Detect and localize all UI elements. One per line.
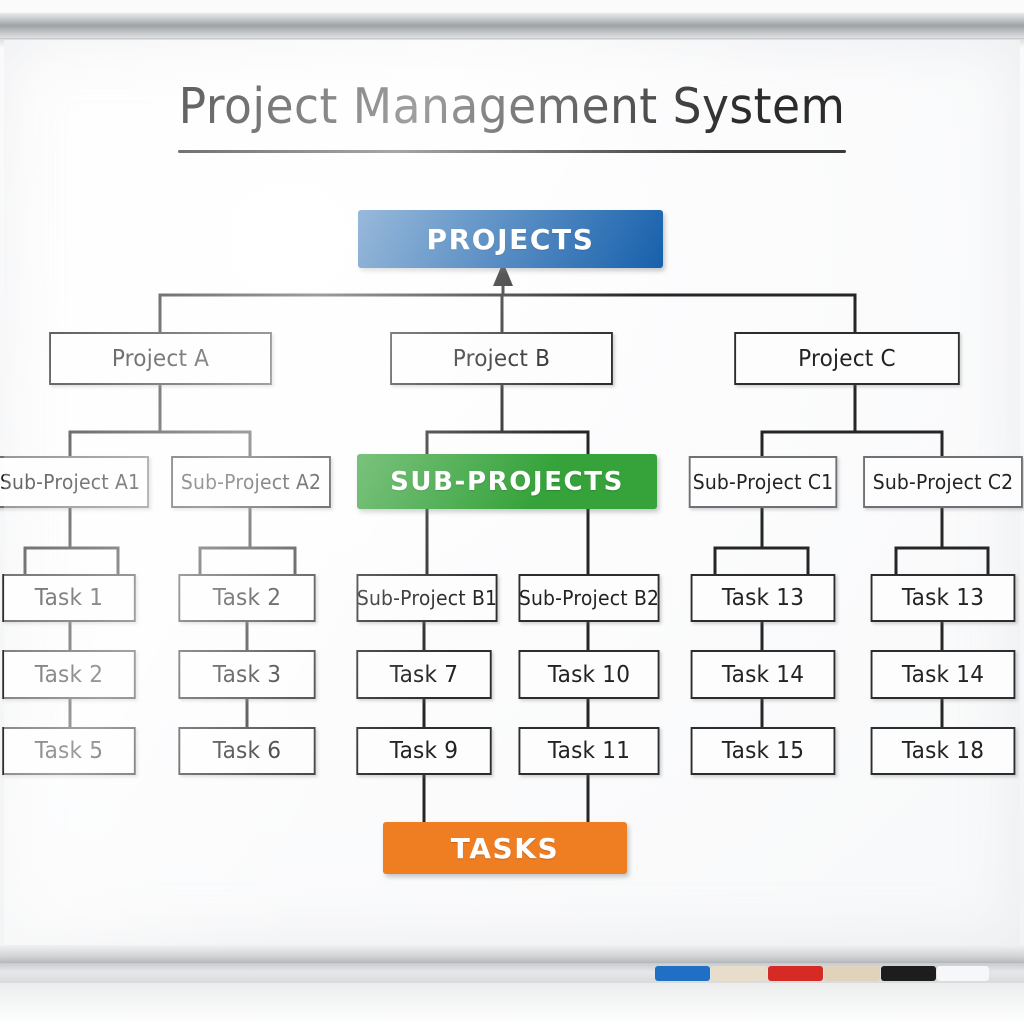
node-sub-project-a1[interactable]: Sub-Project A1 [0,456,149,508]
projects-banner[interactable]: PROJECTS [358,210,663,268]
tasks-banner-label: TASKS [451,832,560,865]
title-underline [178,150,846,153]
node-label: Task 2 [213,585,281,611]
node-label: Task 1 [35,585,103,611]
node-sub-project-c1[interactable]: Sub-Project C1 [689,456,838,508]
node-label: Task 13 [902,585,984,611]
node-label: Sub-Project A1 [0,470,140,494]
node-task-c1-1[interactable]: Task 13 [691,574,836,622]
node-label: Task 14 [722,662,804,688]
node-label: Task 15 [722,738,804,764]
red-marker[interactable] [768,966,823,981]
node-label: Sub-Project C2 [873,470,1014,494]
sub-projects-banner[interactable]: SUB-PROJECTS [357,454,657,509]
node-label: Task 10 [548,662,630,688]
black-marker[interactable] [881,966,936,981]
node-project-c[interactable]: Project C [734,332,960,385]
cream-marker[interactable] [711,966,767,981]
node-label: Task 2 [35,662,103,688]
node-task-a1-1[interactable]: Task 1 [2,574,135,622]
node-task-a2-1[interactable]: Task 2 [178,574,315,622]
page-title: Project Management System [36,78,988,135]
node-sub-project-c2[interactable]: Sub-Project C2 [863,456,1023,508]
node-task-c1-2[interactable]: Task 14 [691,650,836,699]
node-sub-project-b2[interactable]: Sub-Project B2 [519,574,660,622]
node-label: Project B [453,346,550,372]
node-task-a2-2[interactable]: Task 3 [178,650,315,699]
node-label: Task 11 [548,738,630,764]
node-label: Project C [798,346,896,372]
node-label: Task 18 [902,738,984,764]
projects-banner-label: PROJECTS [426,223,594,256]
tasks-banner[interactable]: TASKS [383,822,627,874]
node-task-b2-2[interactable]: Task 11 [519,727,660,775]
node-task-c2-2[interactable]: Task 14 [871,650,1016,699]
node-label: Task 9 [390,738,458,764]
node-task-c2-1[interactable]: Task 13 [871,574,1016,622]
node-label: Sub-Project B1 [357,586,497,610]
node-label: Task 3 [213,662,281,688]
marker-tray-lip [0,983,1024,1024]
white-marker[interactable] [937,966,989,981]
tan-marker[interactable] [824,966,880,981]
whiteboard-top-frame [0,12,1024,39]
node-sub-project-a2[interactable]: Sub-Project A2 [171,456,331,508]
node-label: Task 7 [390,662,458,688]
node-project-b[interactable]: Project B [390,332,613,385]
node-label: Task 14 [902,662,984,688]
node-label: Task 13 [722,585,804,611]
whiteboard-scene: Project Management System [0,0,1024,1024]
node-task-b1-1[interactable]: Task 7 [356,650,491,699]
node-label: Project A [112,346,209,372]
node-sub-project-b1[interactable]: Sub-Project B1 [357,574,498,622]
blue-marker[interactable] [655,966,710,981]
node-task-c2-3[interactable]: Task 18 [871,727,1016,775]
node-label: Sub-Project C1 [693,470,834,494]
sub-projects-banner-label: SUB-PROJECTS [390,467,624,497]
node-label: Sub-Project A2 [181,470,321,494]
node-project-a[interactable]: Project A [49,332,272,385]
node-task-a2-3[interactable]: Task 6 [178,727,315,775]
node-task-b2-1[interactable]: Task 10 [519,650,660,699]
node-task-a1-2[interactable]: Task 2 [2,650,135,699]
node-task-b1-2[interactable]: Task 9 [356,727,491,775]
node-task-c1-3[interactable]: Task 15 [691,727,836,775]
node-label: Task 5 [35,738,103,764]
node-label: Task 6 [213,738,281,764]
node-label: Sub-Project B2 [519,586,659,610]
node-task-a1-3[interactable]: Task 5 [2,727,135,775]
whiteboard-bottom-frame [0,945,1024,965]
